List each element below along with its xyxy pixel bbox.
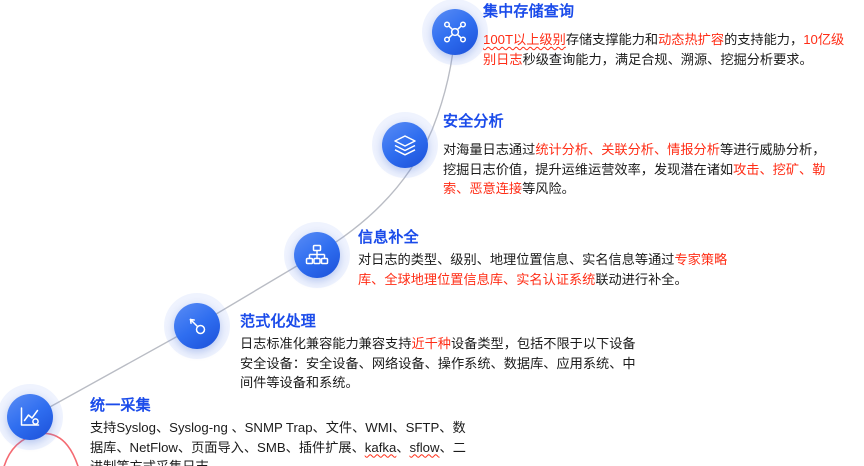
text-run: 、 [396, 440, 409, 455]
stage-body: 日志标准化兼容能力兼容支持近千种设备类型，包括不限于以下设备安全设备：安全设备、… [240, 334, 640, 393]
text-run: 秒级查询能力，满足合规、溯源、挖掘分析要求。 [523, 52, 813, 67]
text-run: sflow [409, 440, 439, 455]
stage-title: 信息补全 [358, 228, 738, 247]
stage-block-centralized-storage-query: 集中存储查询 100T以上级别存储支撑能力和动态热扩容的支持能力，10亿级别日志… [483, 2, 853, 69]
stage-title: 统一采集 [90, 396, 470, 415]
stage-block-unified-collection: 统一采集 支持Syslog、Syslog-ng 、SNMP Trap、文件、WM… [90, 396, 470, 466]
sitemap-icon [305, 243, 329, 267]
stage-body: 对海量日志通过统计分析、关联分析、情报分析等进行威胁分析，挖掘日志价值，提升运维… [443, 140, 833, 199]
stage-block-normalization-processing: 范式化处理 日志标准化兼容能力兼容支持近千种设备类型，包括不限于以下设备安全设备… [240, 312, 640, 393]
stage-node-normalization-processing[interactable] [174, 303, 220, 349]
stage-node-centralized-storage-query[interactable] [432, 9, 478, 55]
stage-title: 集中存储查询 [483, 2, 853, 21]
stage-node-unified-collection[interactable] [7, 394, 53, 440]
text-run: 存储支撑能力和 [566, 32, 658, 47]
stage-block-information-completion: 信息补全 对日志的类型、级别、地理位置信息、实名信息等通过专家策略库、全球地理位… [358, 228, 738, 289]
text-run: 对日志的类型、级别、地理位置信息、实名信息等通过 [358, 252, 675, 267]
text-run: 日志标准化兼容能力兼容支持 [240, 336, 411, 351]
key-icon [186, 315, 208, 337]
text-run: 100T以上级别 [483, 32, 566, 47]
text-run: 统计分析、关联分析、情报分析 [535, 142, 720, 157]
stage-node-security-analysis[interactable] [382, 122, 428, 168]
chart-analytics-icon [18, 405, 42, 429]
stage-body: 支持Syslog、Syslog-ng 、SNMP Trap、文件、WMI、SFT… [90, 418, 470, 466]
text-run: kafka [365, 440, 397, 455]
text-run: 动态热扩容 [658, 32, 724, 47]
infographic-canvas: 集中存储查询 100T以上级别存储支撑能力和动态热扩容的支持能力，10亿级别日志… [0, 0, 864, 466]
text-run: 联动进行补全。 [595, 272, 687, 287]
network-nodes-icon [442, 19, 468, 45]
stage-title: 范式化处理 [240, 312, 640, 331]
stage-block-security-analysis: 安全分析 对海量日志通过统计分析、关联分析、情报分析等进行威胁分析，挖掘日志价值… [443, 112, 833, 199]
text-run: 近千种 [411, 336, 451, 351]
text-run: 等风险。 [522, 181, 575, 196]
stage-title: 安全分析 [443, 112, 833, 131]
text-run: 的支持能力， [724, 32, 803, 47]
stage-node-information-completion[interactable] [294, 232, 340, 278]
text-run: 对海量日志通过 [443, 142, 535, 157]
stage-body: 对日志的类型、级别、地理位置信息、实名信息等通过专家策略库、全球地理位置信息库、… [358, 250, 738, 289]
layers-icon [393, 133, 417, 157]
stage-body: 100T以上级别存储支撑能力和动态热扩容的支持能力，10亿级别日志秒级查询能力，… [483, 30, 853, 69]
